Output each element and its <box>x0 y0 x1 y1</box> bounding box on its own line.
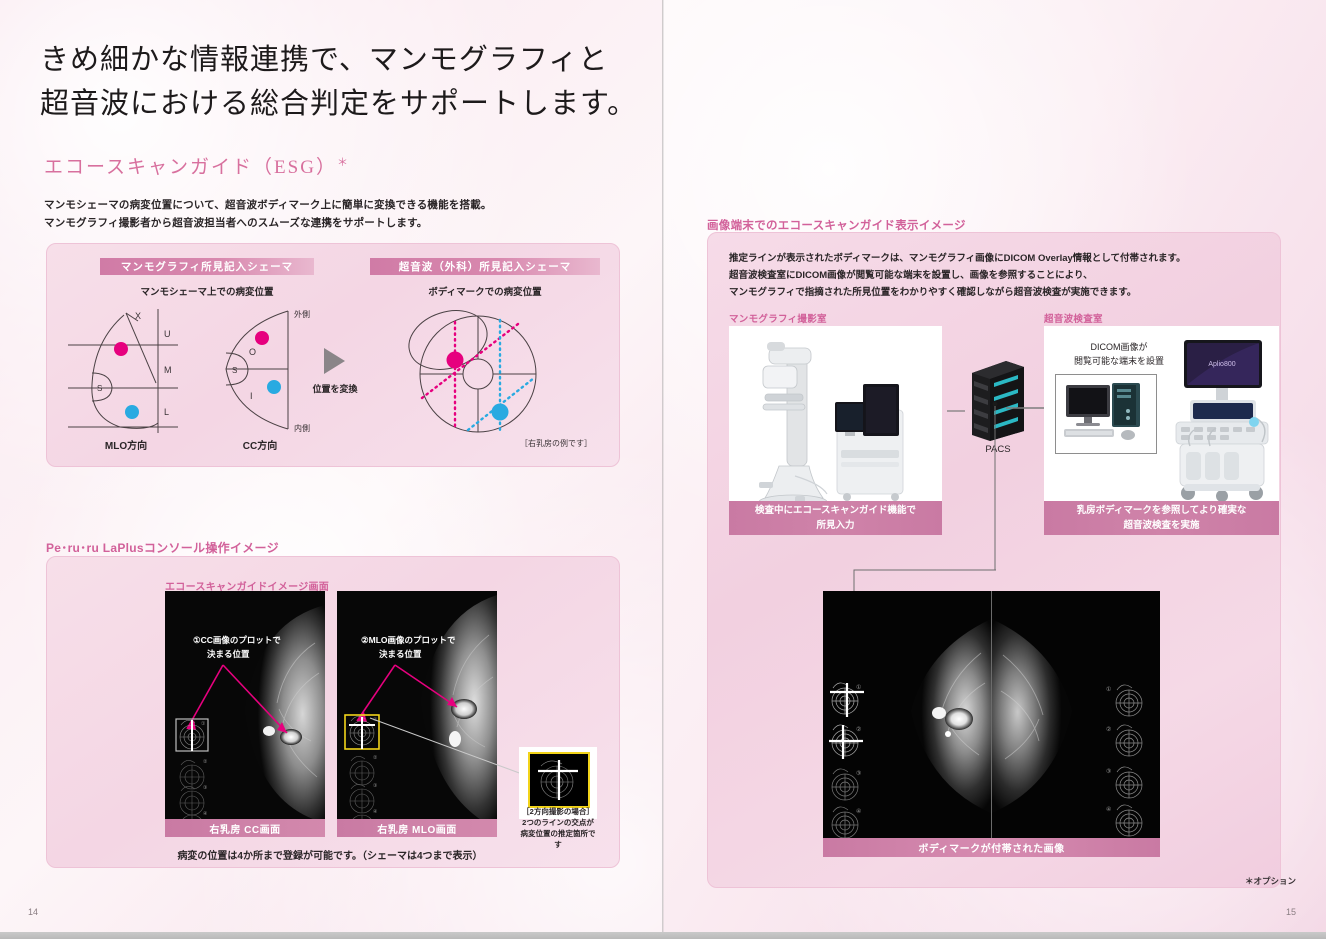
viewer-desc-line-3: マンモグラフィで指摘された所見位置をわかりやすく確認しながら超音波検査が実施でき… <box>729 284 1269 301</box>
inset-callout-text: ［2方向撮影の場合］ 2つのラインの交点が 病変位置の推定箇所です <box>519 806 597 850</box>
esg-heading-text: エコースキャンガイド（ESG） <box>44 157 337 178</box>
headline-line-2: 超音波における総合判定をサポートします。 <box>40 82 620 126</box>
svg-text:M: M <box>164 365 172 375</box>
arrow-console-to-pacs <box>947 406 965 416</box>
mammography-caption-line-2: 所見入力 <box>816 518 854 533</box>
mammography-caption-line-1: 検査中にエコースキャンガイド機能で <box>755 503 916 518</box>
dicom-caption-line-2: 閲覧可能な端末を設置 <box>1044 354 1194 368</box>
left-page: きめ細かな情報連携で、マンモグラフィと 超音波における総合判定をサポートします。… <box>0 0 663 939</box>
viewer-section-title: 画像端末でのエコースキャンガイド表示イメージ <box>707 217 966 233</box>
svg-text:④: ④ <box>1106 806 1111 813</box>
svg-text:S: S <box>97 384 102 393</box>
svg-text:④: ④ <box>856 808 861 815</box>
cc-schema-diagram: 外側 内側 O I S <box>200 305 320 435</box>
page-number-right: 15 <box>1286 907 1296 917</box>
cc-screenshot[interactable]: ①CC画像のプロットで 決まる位置 ① <box>165 591 325 837</box>
svg-text:②: ② <box>1106 726 1111 733</box>
svg-text:③: ③ <box>203 785 207 791</box>
cc-direction-label: CC方向 <box>200 437 320 452</box>
svg-text:①CC画像のプロットで: ①CC画像のプロットで <box>193 635 281 645</box>
mlo-schema-diagram: X U M L S <box>66 305 186 435</box>
esg-desc-line-2: マンモグラフィ撮影者から超音波担当者へのスムーズな連携をサポートします。 <box>44 214 564 232</box>
room-label-ultrasound: 超音波検査室 <box>1044 311 1103 325</box>
svg-text:内側: 内側 <box>294 423 310 433</box>
mlo-screenshot-caption: 右乳房 MLO画面 <box>337 819 497 837</box>
viewer-description: 推定ラインが表示されたボディマークは、マンモグラフィ画像にDICOM Overl… <box>729 250 1269 301</box>
svg-text:③: ③ <box>373 783 377 789</box>
option-footnote: ＊オプション <box>1245 875 1296 887</box>
esg-heading-asterisk: ＊ <box>337 157 350 169</box>
svg-text:②: ② <box>203 759 208 765</box>
right-page: 画像端末でのエコースキャンガイド表示イメージ 推定ラインが表示されたボディマーク… <box>663 0 1326 939</box>
dicom-terminal-caption: DICOM画像が 閲覧可能な端末を設置 <box>1044 340 1194 368</box>
svg-text:①: ① <box>201 721 206 727</box>
us-schema-subtitle: ボディマークでの病変位置 <box>370 284 600 298</box>
mammo-schema-title-bar: マンモグラフィ所見記入シェーマ <box>100 258 314 275</box>
svg-text:③: ③ <box>856 770 861 777</box>
esg-description: マンモシェーマの病変位置について、超音波ボディマーク上に簡単に変換できる機能を搭… <box>44 196 564 232</box>
right-breast-note: ［右乳房の例です］ <box>520 438 592 449</box>
ultrasound-room-caption: 乳房ボディマークを参照してより確実な 超音波検査を実施 <box>1044 501 1279 535</box>
brochure-spread: きめ細かな情報連携で、マンモグラフィと 超音波における総合判定をサポートします。… <box>0 0 1326 939</box>
dicom-terminal-box <box>1055 374 1157 454</box>
mammo-schema-title: マンモグラフィ所見記入シェーマ <box>121 259 293 274</box>
svg-text:①: ① <box>1106 686 1111 693</box>
bottom-edge-bar <box>0 932 1326 939</box>
mammo-schema-subtitle: マンモシェーマ上での病変位置 <box>100 284 314 298</box>
svg-text:Aplio800: Aplio800 <box>1208 361 1235 368</box>
svg-text:外側: 外側 <box>294 309 310 319</box>
ultrasound-caption-line-1: 乳房ボディマークを参照してより確実な <box>1077 503 1247 518</box>
mlo-direction-label: MLO方向 <box>66 437 186 452</box>
console-footer-note: 病変の位置は4か所まで登録が可能です。（シェーマは4つまで表示） <box>120 847 540 862</box>
console-section-title: Pe･ru･ru LaPlusコンソール操作イメージ <box>46 539 279 556</box>
bodymark-image-viewer[interactable]: ①② ③④ <box>823 591 1160 838</box>
svg-text:S: S <box>232 366 237 375</box>
svg-text:③: ③ <box>1106 768 1111 775</box>
page-headline: きめ細かな情報連携で、マンモグラフィと 超音波における総合判定をサポートします。 <box>40 38 620 126</box>
room-label-mammography: マンモグラフィ撮影室 <box>729 311 827 325</box>
dicom-caption-line-1: DICOM画像が <box>1044 340 1194 354</box>
svg-text:②: ② <box>856 726 861 733</box>
viewer-desc-line-2: 超音波検査室にDICOM画像が閲覧可能な端末を設置し、画像を参照することにより、 <box>729 267 1269 284</box>
esg-section-heading: エコースキャンガイド（ESG）＊ <box>44 152 350 179</box>
page-number-left: 14 <box>28 907 38 917</box>
svg-text:X: X <box>135 311 141 321</box>
inset-crosshair-image <box>528 752 590 808</box>
svg-text:L: L <box>164 407 169 417</box>
convert-arrow-icon <box>318 345 350 377</box>
cc-screenshot-caption: 右乳房 CC画面 <box>165 819 325 837</box>
svg-text:②MLO画像のプロットで: ②MLO画像のプロットで <box>361 635 456 645</box>
svg-text:I: I <box>250 391 253 401</box>
svg-text:決まる位置: 決まる位置 <box>379 649 422 659</box>
convert-label: 位置を変換 <box>306 382 364 395</box>
us-schema-title-bar: 超音波（外科）所見記入シェーマ <box>370 258 600 275</box>
svg-text:④: ④ <box>203 811 208 817</box>
svg-text:U: U <box>164 329 171 339</box>
inset-text-line-1: ［2方向撮影の場合］ <box>519 806 597 817</box>
terminal-to-image-connector <box>990 400 1000 590</box>
svg-text:①: ① <box>856 684 861 691</box>
inset-text-line-2: 2つのラインの交点が <box>519 817 597 828</box>
headline-line-1: きめ細かな情報連携で、マンモグラフィと <box>40 38 620 82</box>
page-gutter <box>662 0 664 939</box>
svg-text:決まる位置: 決まる位置 <box>207 649 250 659</box>
viewer-desc-line-1: 推定ラインが表示されたボディマークは、マンモグラフィ画像にDICOM Overl… <box>729 250 1269 267</box>
mammography-room-caption: 検査中にエコースキャンガイド機能で 所見入力 <box>729 501 942 535</box>
us-bodymark-diagram <box>400 302 585 442</box>
svg-text:④: ④ <box>373 809 378 815</box>
esg-desc-line-1: マンモシェーマの病変位置について、超音波ボディマーク上に簡単に変換できる機能を搭… <box>44 196 564 214</box>
mlo-screenshot[interactable]: ②MLO画像のプロットで 決まる位置 ① <box>337 591 497 837</box>
us-schema-title: 超音波（外科）所見記入シェーマ <box>399 259 572 274</box>
ultrasound-caption-line-2: 超音波検査を実施 <box>1123 518 1199 533</box>
bodymark-image-caption: ボディマークが付帯された画像 <box>823 838 1160 857</box>
svg-text:O: O <box>249 347 256 357</box>
inset-leader-line <box>370 718 530 780</box>
mammography-room-photo <box>729 326 942 519</box>
